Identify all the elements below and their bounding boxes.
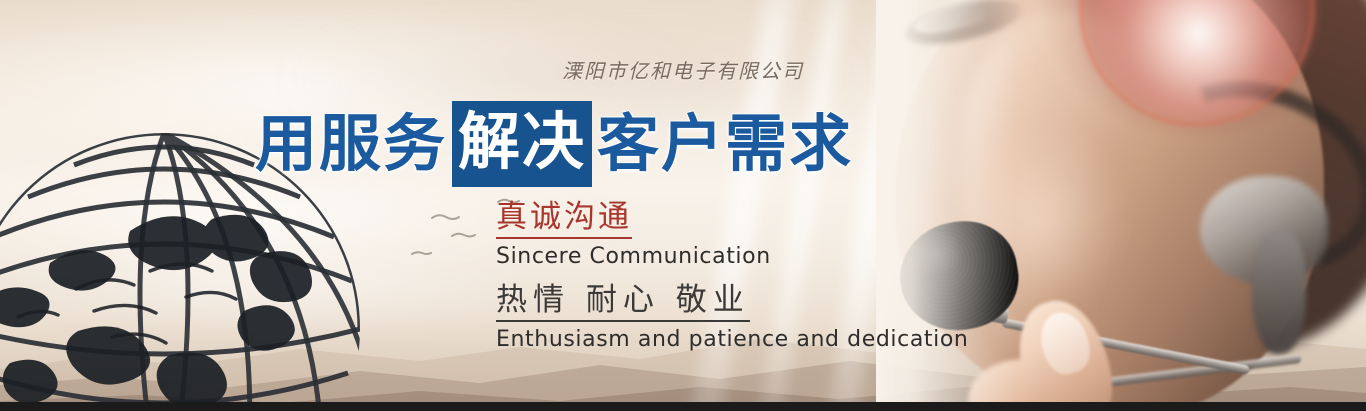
company-name: 溧阳市亿和电子有限公司 xyxy=(0,55,1366,84)
headline-after: 客户需求 xyxy=(597,107,853,181)
slogan-en-1: Sincere Communication xyxy=(496,242,968,272)
headline-before: 用服务 xyxy=(255,107,447,181)
slogan-cn-1: 真诚沟通 xyxy=(496,198,632,239)
page-title: 用服务 解决 客户需求 xyxy=(255,101,853,187)
slogan-block: 真诚沟通 Sincere Communication 热情 耐心 敬业 Enth… xyxy=(496,198,968,355)
bottom-bar xyxy=(0,402,1366,411)
slogan-en-2: Enthusiasm and patience and dedication xyxy=(496,325,968,355)
headline-highlight: 解决 xyxy=(452,101,592,187)
headset-earhook xyxy=(1252,232,1306,354)
hero-banner: 溧阳市亿和电子有限公司 用服务 解决 客户需求 真诚沟通 Sincere Com… xyxy=(0,0,1366,411)
slogan-cn-2: 热情 耐心 敬业 xyxy=(496,281,750,322)
